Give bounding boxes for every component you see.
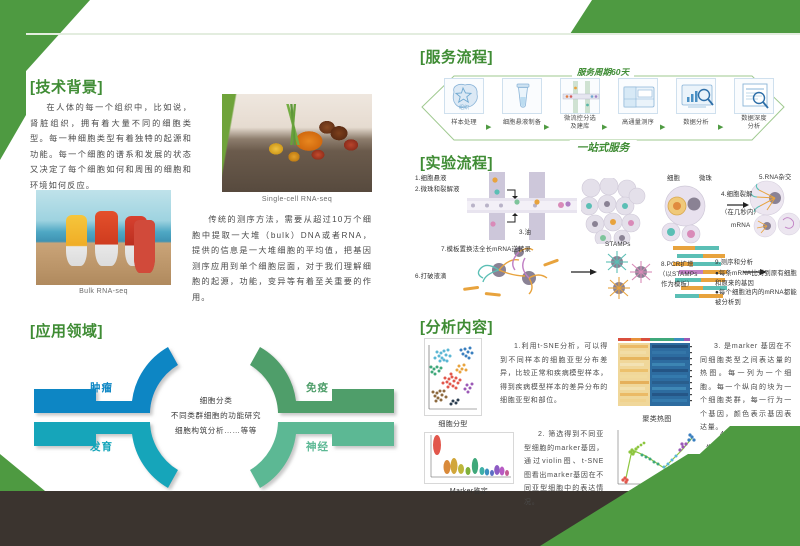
service-icon-box-5 [676, 78, 716, 114]
center-line-2: 不同类群细胞的功能研究 [146, 408, 286, 423]
exp-step-8: 8.PCR扩增 [661, 260, 694, 269]
experiment-process-diagram: 1.细胞悬液 2.微珠和裂解液 3.油 细胞 微珠 4.细胞裂解 （在几秒内） … [415, 172, 797, 300]
tissue-icon-caption: 组织 [445, 104, 483, 111]
service-arrow-5: ▶ [718, 123, 723, 131]
exp-step-7: 7.模板置换法全长mRNA逆转录 [441, 245, 531, 254]
analysis-text-2: 2. 筛选得到不同亚型细胞的marker基因，通过violin图、t-SNE图看… [524, 428, 604, 509]
center-line-3: 细胞构筑分析……等等 [146, 423, 286, 438]
service-step-label-5: 数据分析 [668, 119, 724, 127]
tsne-scatter-svg [425, 339, 481, 415]
chart-monitor-icon [677, 79, 717, 115]
exp-step-2: 2.微珠和裂解液 [415, 185, 460, 194]
exp-step-5: 5.RNA杂交 [759, 173, 792, 182]
exp-step-8-sub2: 作为模板） [661, 280, 693, 289]
figure-tsne-scatter [424, 338, 482, 416]
report-magnifier-icon [735, 79, 775, 115]
analysis-caption-2: Marker鉴定 [424, 486, 514, 496]
photo-single-cell [222, 94, 372, 192]
service-icon-box-4 [618, 78, 658, 114]
section-title-analysis: [分析内容] [420, 316, 493, 337]
microfluidic-icon [561, 79, 601, 115]
application-center-text: 细胞分类 不同类群细胞的功能研究 细胞构筑分析……等等 [146, 393, 286, 438]
service-icon-box-1: 组织 [444, 78, 484, 114]
caption-bulk: Bulk RNA-seq [36, 288, 171, 295]
corner-decoration-top-left-bar [0, 0, 26, 160]
analysis-text-3: 3. 是marker 基因在不同细胞类型之间表达量的热图。每一列为一个细胞。每一… [700, 340, 792, 435]
sequencer-icon [619, 79, 659, 115]
cocktail-drinks-image [36, 190, 171, 285]
cell-bead-droplet-diagram [659, 184, 719, 244]
service-icon-box-3 [560, 78, 600, 114]
caption-single-cell: Single-cell RNA-seq [222, 196, 372, 203]
service-step-label-6: 数据深度 分析 [726, 115, 782, 131]
corner-decoration-top-right [570, 0, 800, 34]
header-divider [26, 33, 800, 35]
service-step-label-1: 样本处理 [436, 119, 492, 127]
exp-step-8-sub1: （以STAMPs [659, 270, 698, 279]
label-tumor: 肿瘤 [90, 380, 113, 395]
center-line-1: 细胞分类 [146, 393, 286, 408]
exp-bullet-2: ●每个细胞池内的mRNA都能被分析到 [715, 288, 797, 307]
poster-page: [技术背景] 在人体的每一个组织中，比如说，肾脏组织，拥有着大量不同的细胞类型。… [0, 0, 800, 546]
figure-violin-plot [424, 432, 514, 484]
application-domain-diagram: 肿瘤 发育 免疫 神经 细胞分类 不同类群细胞的功能研究 细胞构筑分析……等等 [28, 335, 400, 500]
section-title-experiment-process: [实验流程] [420, 152, 493, 173]
analysis-text-1: 1.利用t-SNE分析，可以得到不同样本的细胞亚型分布差异，比较正常和疾病模型样… [500, 340, 608, 408]
photo-bulk [36, 190, 171, 285]
service-arrow-3: ▶ [602, 123, 607, 131]
exp-annotation-cell: 细胞 [667, 174, 680, 183]
service-arrow-2: ▶ [544, 123, 549, 131]
exp-step-3: 3.油 [519, 228, 531, 237]
violin-plot-svg [425, 433, 513, 483]
exp-annotation-stamps: STAMPs [605, 240, 631, 249]
tech-background-paragraph-1: 在人体的每一个组织中，比如说，肾脏组织，拥有着大量不同的细胞类型。每一种细胞类型… [30, 100, 192, 193]
tech-background-paragraph-2: 传统的测序方法，需要从超过10万个细胞中提取一大堆（bulk）DNA或者RNA，… [192, 212, 372, 305]
figure-heatmap [618, 338, 696, 413]
exp-step-6: 6.打破液滴 [415, 272, 447, 281]
exp-annotation-bead: 微珠 [699, 174, 712, 183]
fruit-platter-image [222, 94, 372, 192]
exp-step-4: 4.细胞裂解 [721, 190, 753, 199]
service-cycle-label: 服务周期60天 [572, 66, 634, 78]
exp-annotation-mrna: mRNA [731, 221, 750, 230]
service-arrow-1: ▶ [486, 123, 491, 131]
droplet-cluster-diagram [581, 178, 647, 244]
label-immunology: 免疫 [306, 380, 329, 395]
drink-glass-3 [125, 216, 147, 266]
section-title-tech-background: [技术背景] [30, 76, 103, 97]
stamps-beads-diagram [601, 248, 661, 300]
exp-step-9: 9.测序和分析 [715, 258, 753, 267]
label-neuroscience: 神经 [306, 439, 329, 454]
service-process-diagram: 组织 [418, 70, 788, 145]
exp-step-4-sub: （在几秒内） [721, 208, 760, 217]
service-arrow-4: ▶ [660, 123, 665, 131]
service-icon-box-6 [734, 78, 774, 114]
exp-step-1: 1.细胞悬液 [415, 174, 447, 183]
service-step-label-3: 微流控分选 及建库 [552, 115, 608, 131]
tube-icon [503, 79, 543, 115]
service-step-label-2: 细胞悬液制备 [494, 119, 550, 127]
heatmap-svg [618, 338, 696, 413]
exp-bullet-1: ●每条mRNA比对到原有细胞和原来的基因 [715, 269, 797, 288]
label-development: 发育 [90, 439, 113, 454]
section-title-service-process: [服务流程] [420, 46, 493, 67]
analysis-caption-1: 细胞分型 [414, 419, 492, 429]
arrow-step-8 [571, 268, 597, 276]
service-step-label-4: 高通量测序 [610, 119, 666, 127]
analysis-caption-3: 聚类热图 [618, 414, 696, 424]
service-icon-box-2 [502, 78, 542, 114]
service-onestop-label: 一站式服务 [570, 140, 637, 155]
